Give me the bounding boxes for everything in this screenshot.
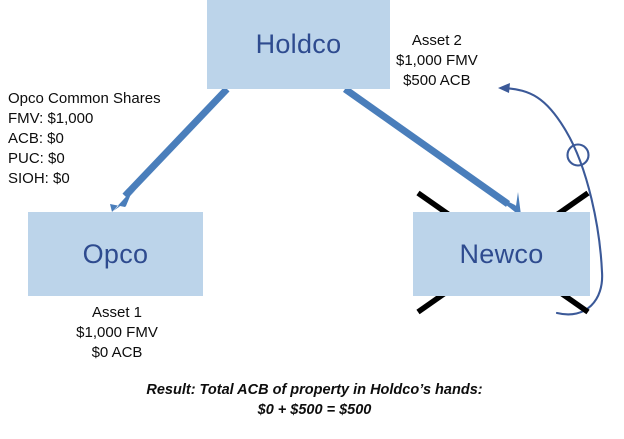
entity-label-opco: Opco [83, 241, 149, 268]
diagram-canvas: Holdco Opco Newco Opco Common Shares FMV… [0, 0, 624, 439]
entity-label-holdco: Holdco [256, 31, 342, 58]
entity-box-holdco: Holdco [207, 0, 390, 89]
note-asset-2: Asset 2 $1,000 FMV $500 ACB [396, 31, 478, 91]
note-opco-common-shares: Opco Common Shares FMV: $1,000 ACB: $0 P… [8, 89, 161, 189]
entity-label-newco: Newco [459, 241, 543, 268]
entity-box-newco: Newco [413, 212, 590, 296]
note-asset-1: Asset 1 $1,000 FMV $0 ACB [50, 303, 184, 363]
note-result: Result: Total ACB of property in Holdco’… [142, 381, 487, 420]
holdco-to-newco-arrow [345, 89, 521, 216]
entity-box-opco: Opco [28, 212, 203, 296]
circle-icon [568, 145, 589, 166]
